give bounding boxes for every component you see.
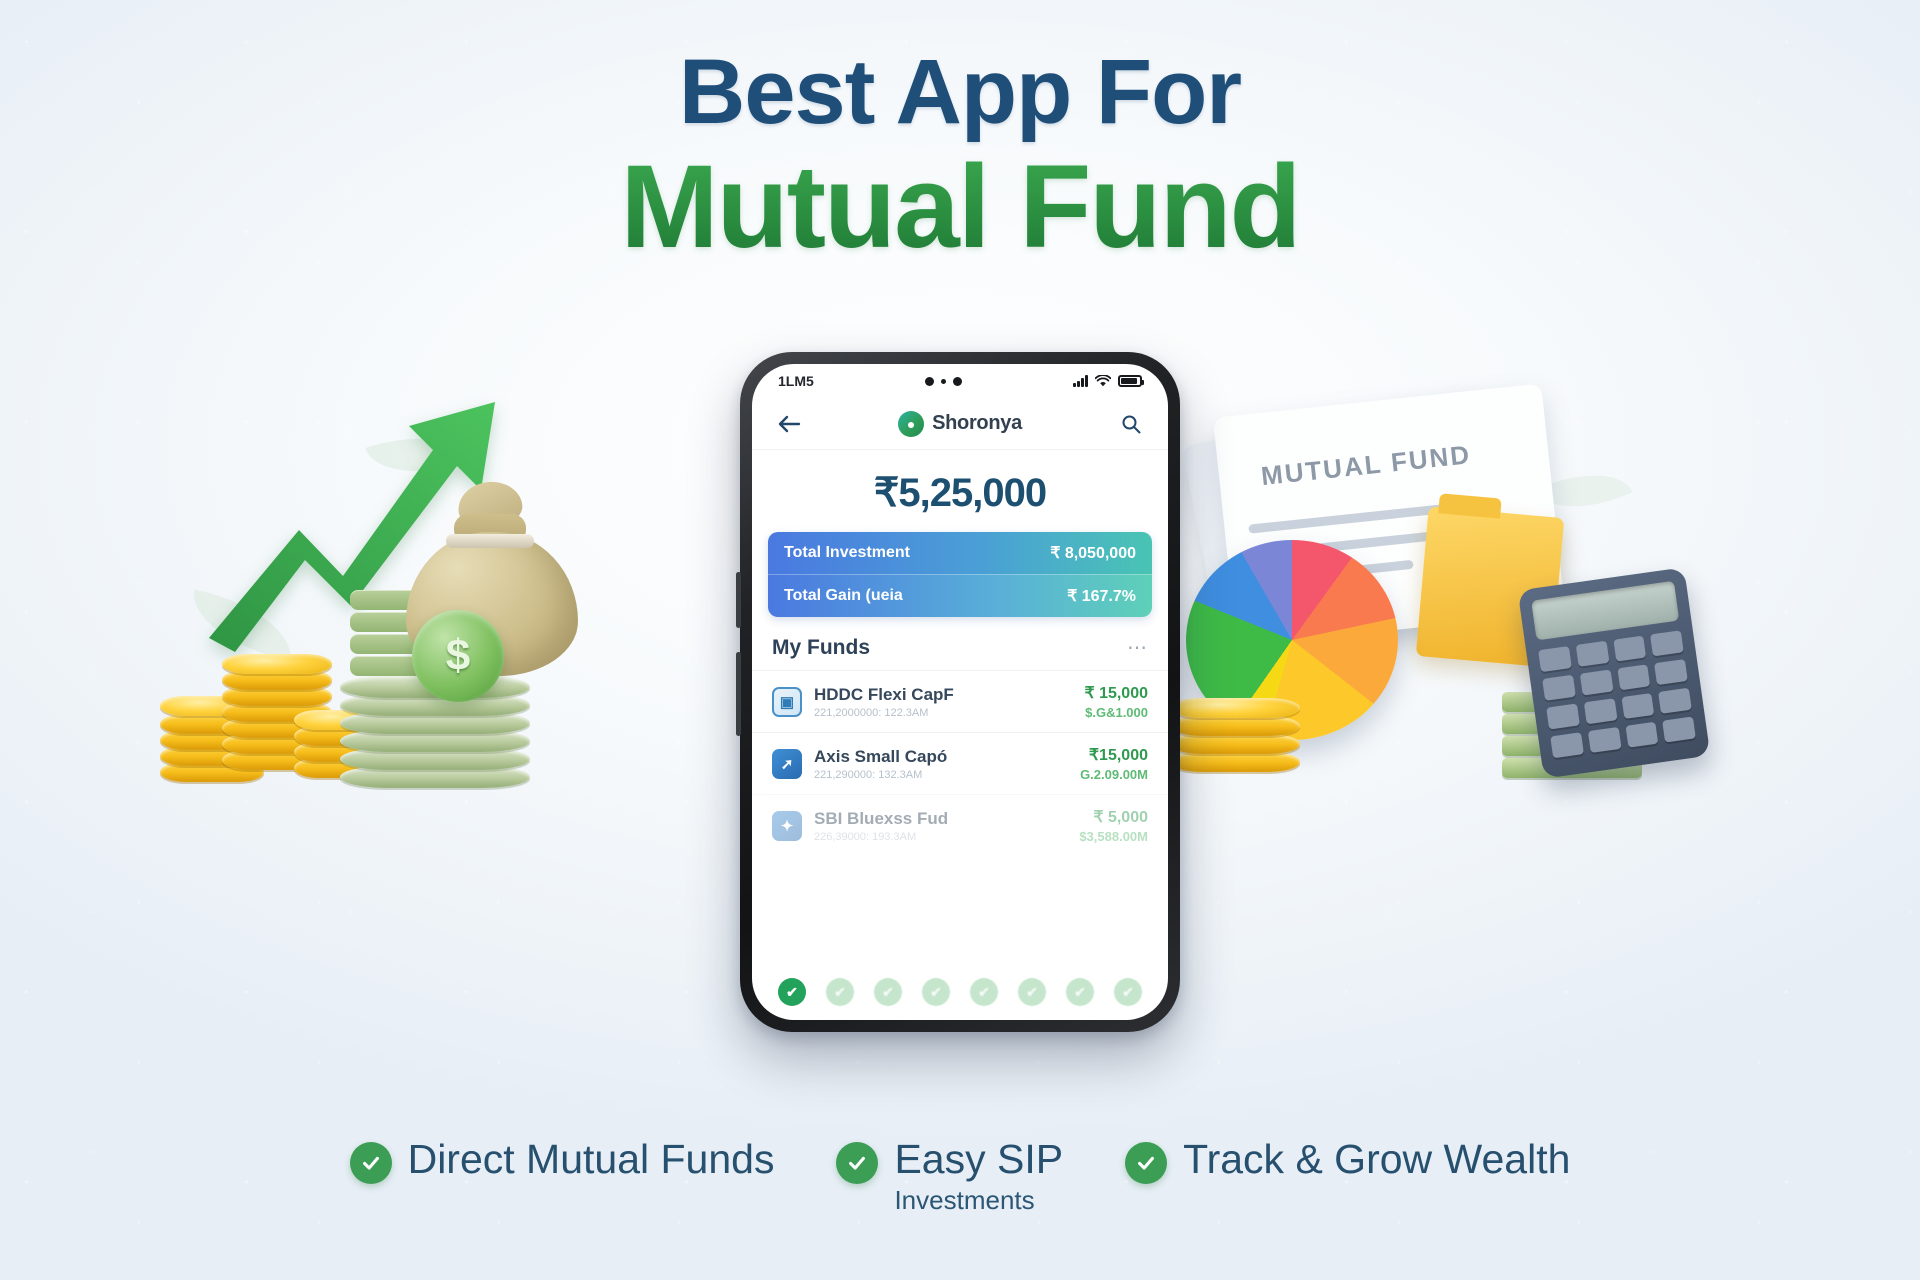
sbi-fund-icon: ✦ bbox=[772, 811, 802, 841]
fund-subtitle: 221,2000000: 122.3AM bbox=[814, 707, 1072, 719]
fund-amount: ₹15,000 bbox=[1080, 745, 1148, 765]
feature-list: Direct Mutual Funds Easy SIP Investments… bbox=[0, 1138, 1920, 1216]
phone-screen: 1LM5 bbox=[752, 364, 1168, 1020]
check-badge-icon[interactable]: ✔ bbox=[826, 978, 854, 1006]
dollar-coin-icon: $ bbox=[412, 610, 504, 702]
more-dots-icon[interactable]: ⋯ bbox=[1127, 635, 1148, 660]
hdfc-fund-icon: ▣ bbox=[772, 687, 802, 717]
check-badge-icon[interactable]: ✔ bbox=[970, 978, 998, 1006]
phone-mockup: 1LM5 bbox=[740, 352, 1180, 1032]
list-item[interactable]: ➚ Axis Small Capó 221,290000: 132.3AM ₹1… bbox=[752, 732, 1168, 794]
back-arrow-icon[interactable] bbox=[774, 409, 804, 439]
status-icons bbox=[1073, 375, 1142, 387]
check-circle-icon bbox=[350, 1142, 392, 1184]
calculator-icon bbox=[1518, 567, 1711, 779]
wifi-icon bbox=[1095, 375, 1111, 387]
badge-row: ✔ ✔ ✔ ✔ ✔ ✔ ✔ ✔ bbox=[752, 968, 1168, 1020]
check-badge-icon[interactable]: ✔ bbox=[1114, 978, 1142, 1006]
portfolio-balance: ₹5,25,000 bbox=[752, 450, 1168, 532]
fund-subtitle: 226,39000: 193.3AM bbox=[814, 831, 1067, 843]
document-title: MUTUAL FUND bbox=[1260, 439, 1473, 492]
camera-punch-hole bbox=[925, 377, 962, 386]
shoronya-logo-icon: ● bbox=[898, 411, 924, 437]
axis-fund-icon: ➚ bbox=[772, 749, 802, 779]
check-badge-icon[interactable]: ✔ bbox=[1066, 978, 1094, 1006]
summary-row-total-investment[interactable]: Total Investment ₹ 8,050,000 bbox=[768, 532, 1152, 574]
fund-name: HDDC Flexi CapF bbox=[814, 685, 1072, 705]
brand-block: ● Shoronya bbox=[804, 411, 1116, 437]
list-item[interactable]: ▣ HDDC Flexi CapF 221,2000000: 122.3AM ₹… bbox=[752, 670, 1168, 732]
summary-label: Total Gain (ueia bbox=[784, 587, 903, 605]
status-bar: 1LM5 bbox=[752, 364, 1168, 398]
brand-name: Shoronya bbox=[932, 412, 1022, 435]
fund-amount: ₹ 15,000 bbox=[1084, 683, 1148, 703]
fund-change: G.2.09.00M bbox=[1080, 767, 1148, 782]
feature-label: Track & Grow Wealth bbox=[1183, 1138, 1570, 1181]
list-item[interactable]: ✦ SBI Bluexss Fud 226,39000: 193.3AM ₹ 5… bbox=[752, 794, 1168, 856]
my-funds-title: My Funds bbox=[772, 636, 870, 660]
phone-side-button-top[interactable] bbox=[736, 572, 741, 628]
check-badge-icon[interactable]: ✔ bbox=[1018, 978, 1046, 1006]
left-illustration: $ bbox=[150, 380, 710, 850]
summary-row-total-gain[interactable]: Total Gain (ueia ₹ 167.7% bbox=[768, 574, 1152, 617]
check-badge-icon[interactable]: ✔ bbox=[874, 978, 902, 1006]
feature-sublabel: Investments bbox=[894, 1185, 1063, 1216]
dollar-symbol: $ bbox=[446, 631, 470, 681]
fund-name: SBI Bluexss Fud bbox=[814, 809, 1067, 829]
feature-label: Direct Mutual Funds bbox=[408, 1138, 775, 1181]
headline-line-2: Mutual Fund bbox=[0, 147, 1920, 267]
search-icon[interactable] bbox=[1116, 409, 1146, 439]
fund-list: ▣ HDDC Flexi CapF 221,2000000: 122.3AM ₹… bbox=[752, 670, 1168, 968]
summary-card: Total Investment ₹ 8,050,000 Total Gain … bbox=[768, 532, 1152, 617]
feature-label: Easy SIP bbox=[894, 1138, 1063, 1181]
check-badge-icon[interactable]: ✔ bbox=[778, 978, 806, 1006]
check-circle-icon bbox=[836, 1142, 878, 1184]
green-note-discs bbox=[340, 680, 560, 830]
feature-easy-sip: Easy SIP Investments bbox=[836, 1138, 1063, 1216]
fund-change: $3,588.00M bbox=[1079, 829, 1148, 844]
app-bar: ● Shoronya bbox=[752, 398, 1168, 450]
right-illustration: MUTUAL FUND bbox=[1190, 390, 1830, 850]
fund-subtitle: 221,290000: 132.3AM bbox=[814, 769, 1068, 781]
summary-value: ₹ 8,050,000 bbox=[1050, 543, 1136, 563]
gold-coin-stack-right bbox=[1170, 690, 1310, 782]
feature-direct-mutual-funds: Direct Mutual Funds bbox=[350, 1138, 775, 1184]
feature-track-grow-wealth: Track & Grow Wealth bbox=[1125, 1138, 1570, 1184]
my-funds-header: My Funds ⋯ bbox=[752, 617, 1168, 670]
battery-icon bbox=[1118, 375, 1142, 387]
headline-line-1: Best App For bbox=[0, 44, 1920, 141]
phone-side-button-bottom[interactable] bbox=[736, 652, 741, 736]
check-badge-icon[interactable]: ✔ bbox=[922, 978, 950, 1006]
summary-label: Total Investment bbox=[784, 544, 910, 562]
fund-change: $.G&1.000 bbox=[1084, 705, 1148, 720]
headline-block: Best App For Mutual Fund bbox=[0, 44, 1920, 267]
fund-amount: ₹ 5,000 bbox=[1079, 807, 1148, 827]
check-circle-icon bbox=[1125, 1142, 1167, 1184]
signal-bars-icon bbox=[1073, 375, 1088, 387]
summary-value: ₹ 167.7% bbox=[1067, 586, 1136, 606]
status-time: 1LM5 bbox=[778, 373, 814, 389]
fund-name: Axis Small Capó bbox=[814, 747, 1068, 767]
